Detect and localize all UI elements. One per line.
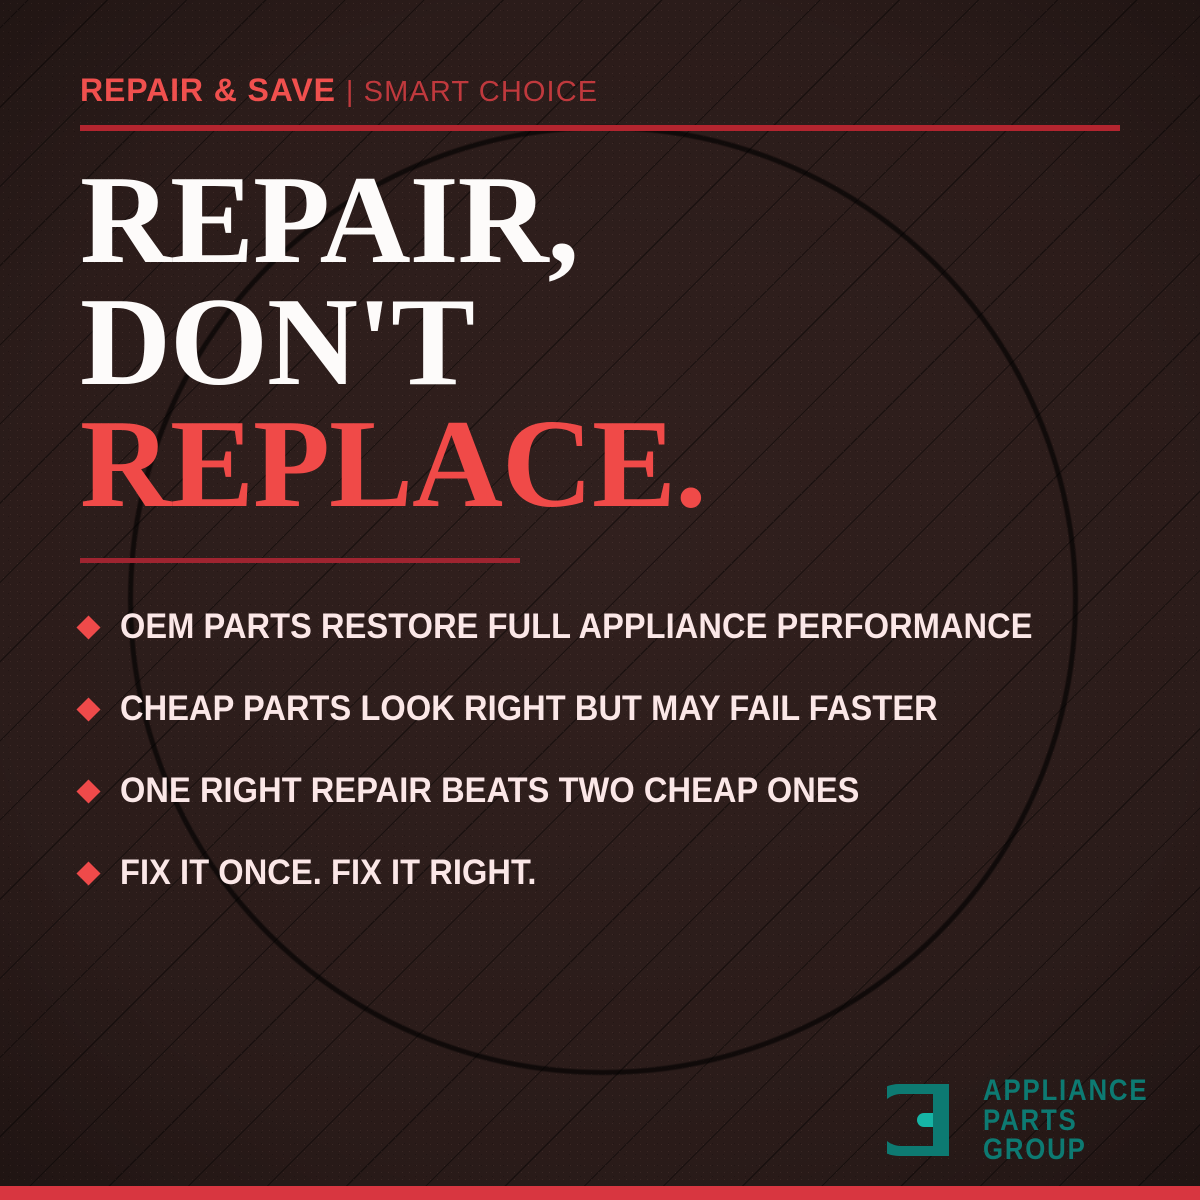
header-kicker: REPAIR & SAVE| SMART CHOICE — [80, 74, 598, 107]
headline-divider-rule — [80, 558, 520, 563]
diamond-bullet-icon — [76, 615, 100, 639]
g-monogram-icon — [887, 1080, 969, 1160]
kicker-sub-label: | SMART CHOICE — [346, 76, 598, 108]
brand-logo: APPLIANCE PARTS GROUP — [887, 1076, 1175, 1165]
benefits-list: OEM PARTS RESTORE FULL APPLIANCE PERFORM… — [80, 586, 1150, 914]
diamond-bullet-icon — [76, 779, 100, 803]
brand-logo-line-2: PARTS — [983, 1106, 1148, 1136]
page-title: REPAIR, DON'T REPLACE. — [80, 160, 1140, 527]
poster-canvas: REPAIR & SAVE| SMART CHOICE REPAIR, DON'… — [0, 0, 1200, 1200]
bottom-accent-bar — [0, 1186, 1200, 1200]
list-item: ONE RIGHT REPAIR BEATS TWO CHEAP ONES — [80, 750, 1150, 832]
brand-logo-line-3: GROUP — [983, 1135, 1148, 1165]
list-item: CHEAP PARTS LOOK RIGHT BUT MAY FAIL FAST… — [80, 668, 1150, 750]
poster-content: REPAIR & SAVE| SMART CHOICE REPAIR, DON'… — [0, 0, 1200, 1200]
list-item-label: OEM PARTS RESTORE FULL APPLIANCE PERFORM… — [120, 607, 1033, 647]
list-item-label: CHEAP PARTS LOOK RIGHT BUT MAY FAIL FAST… — [120, 689, 938, 729]
list-item-label: FIX IT ONCE. FIX IT RIGHT. — [120, 853, 537, 893]
diamond-bullet-icon — [76, 861, 100, 885]
list-item: FIX IT ONCE. FIX IT RIGHT. — [80, 832, 1150, 914]
headline-line-3: REPLACE. — [80, 404, 1140, 526]
list-item-label: ONE RIGHT REPAIR BEATS TWO CHEAP ONES — [120, 771, 859, 811]
brand-logo-line-1: APPLIANCE — [983, 1076, 1148, 1106]
diamond-bullet-icon — [76, 697, 100, 721]
headline-line-1: REPAIR, — [80, 160, 1140, 282]
kicker-main-label: REPAIR & SAVE — [80, 72, 336, 108]
brand-logo-wordmark: APPLIANCE PARTS GROUP — [983, 1076, 1175, 1165]
headline-line-2: DON'T — [80, 282, 1140, 404]
header-divider-rule — [80, 125, 1120, 131]
list-item: OEM PARTS RESTORE FULL APPLIANCE PERFORM… — [80, 586, 1150, 668]
